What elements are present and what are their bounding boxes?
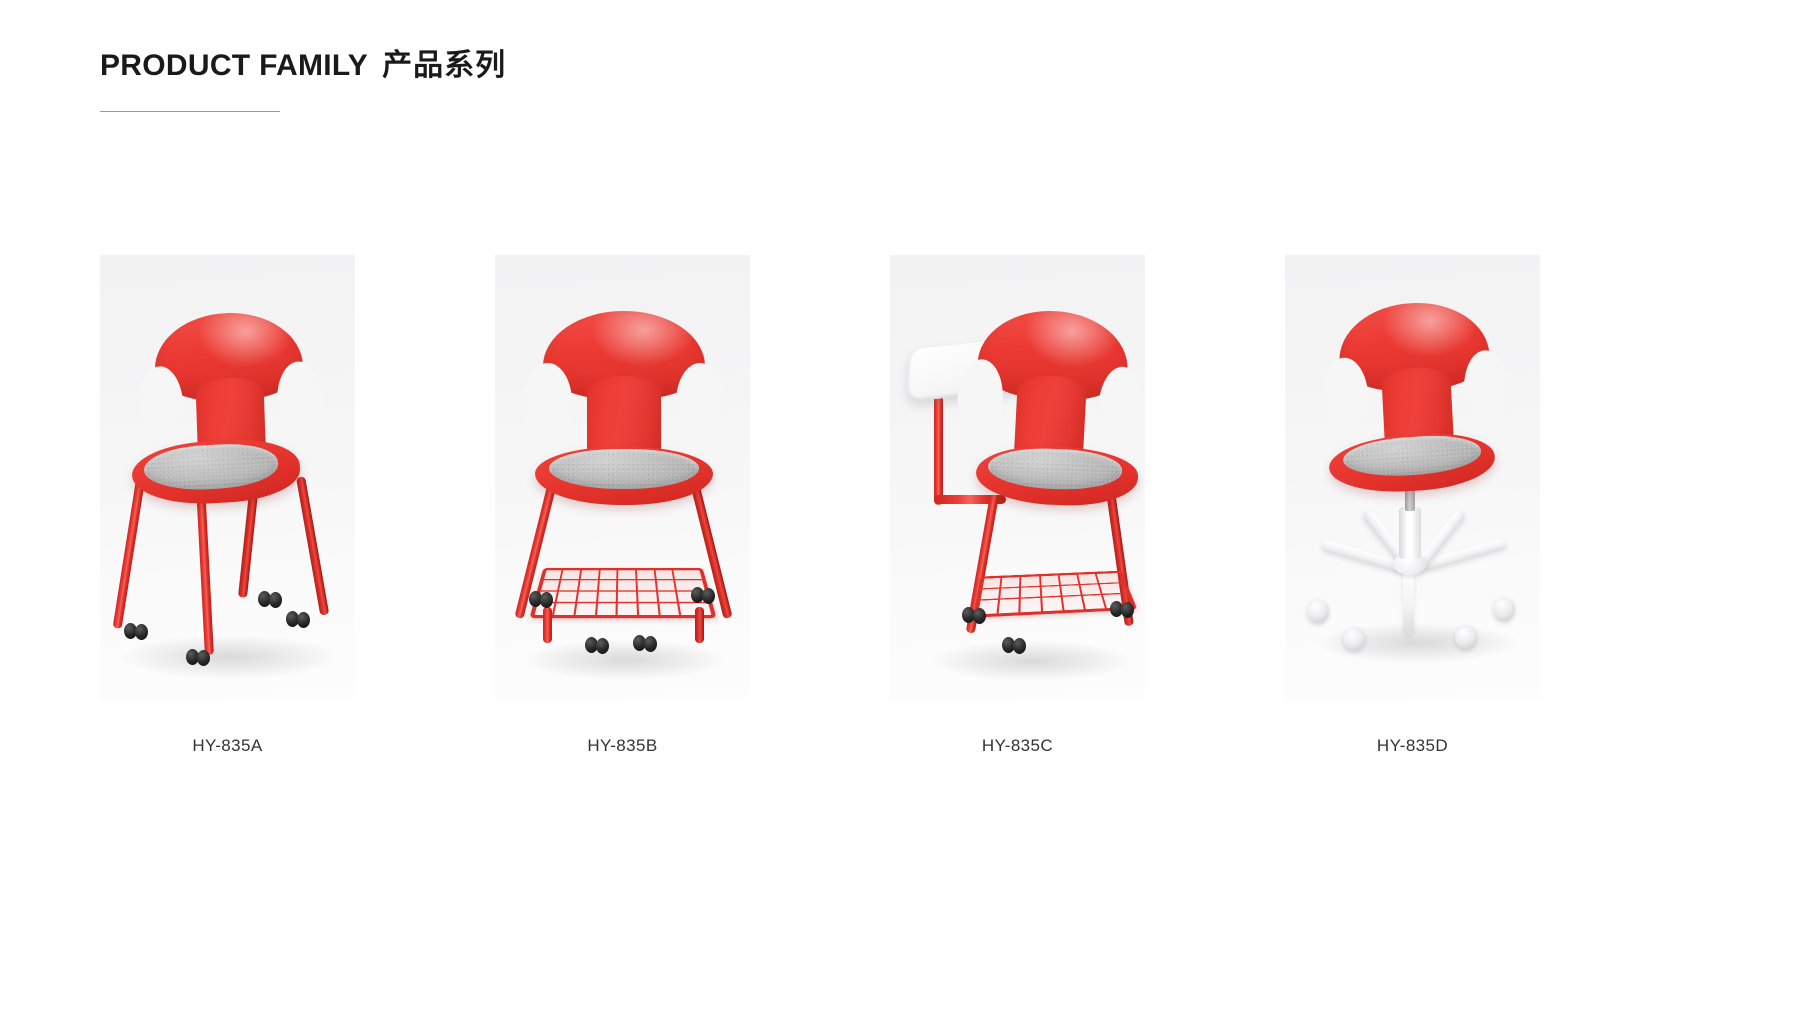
wire-basket <box>529 568 716 618</box>
caster-icon <box>258 591 284 608</box>
caster-icon <box>529 591 555 608</box>
product-photo-b <box>495 255 750 700</box>
title-underline-rule <box>100 111 280 112</box>
product-card-d[interactable]: HY-835D <box>1285 255 1540 855</box>
page-header: PRODUCT FAMILY产品系列 <box>100 40 506 112</box>
seat-cushion <box>549 449 699 489</box>
product-family-page: PRODUCT FAMILY产品系列 <box>0 0 1800 1013</box>
caster-icon <box>1493 597 1515 621</box>
caster-icon <box>186 649 212 666</box>
caster-icon <box>1110 601 1136 618</box>
caster-icon <box>1343 627 1365 651</box>
product-label-b: HY-835B <box>587 736 657 756</box>
product-photo-d <box>1285 255 1540 700</box>
caster-icon <box>633 635 659 652</box>
caster-icon <box>962 607 988 624</box>
caster-icon <box>286 611 312 628</box>
page-title-zh: 产品系列 <box>382 49 506 82</box>
page-title: PRODUCT FAMILY产品系列 <box>100 40 506 84</box>
caster-icon <box>1455 625 1477 649</box>
product-card-a[interactable]: HY-835A <box>100 255 355 855</box>
caster-icon <box>124 623 150 640</box>
gas-cylinder <box>1399 507 1421 559</box>
caster-icon <box>585 637 611 654</box>
product-label-a: HY-835A <box>192 736 262 756</box>
product-card-b[interactable]: HY-835B <box>495 255 750 855</box>
caster-icon <box>1307 599 1329 623</box>
product-label-d: HY-835D <box>1377 736 1448 756</box>
product-photo-a <box>100 255 355 700</box>
product-photo-c <box>890 255 1145 700</box>
caster-icon <box>691 587 717 604</box>
product-label-c: HY-835C <box>982 736 1053 756</box>
page-title-en: PRODUCT FAMILY <box>100 49 368 82</box>
product-grid: HY-835A <box>100 255 1700 855</box>
product-card-c[interactable]: HY-835C <box>890 255 1145 855</box>
caster-icon <box>1002 637 1028 654</box>
